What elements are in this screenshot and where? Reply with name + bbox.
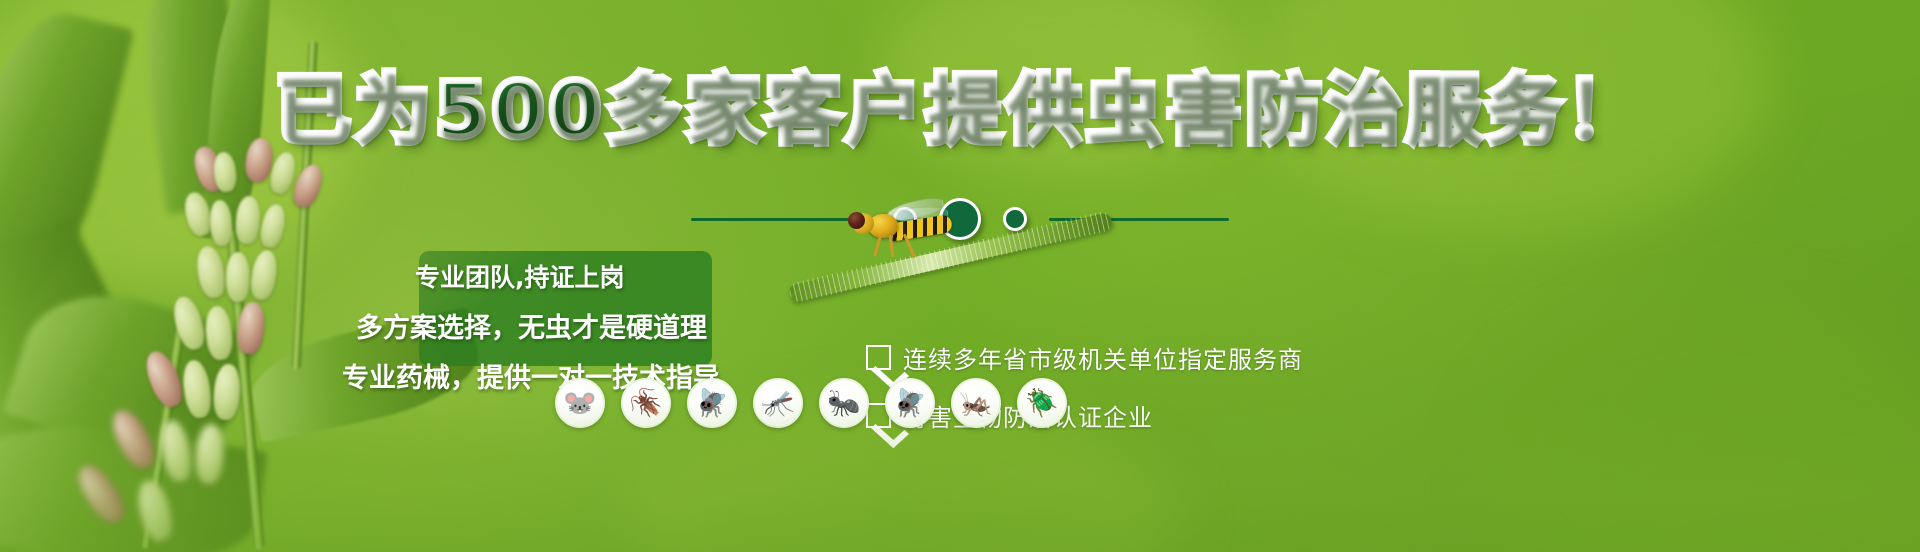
ant-icon: 🐜 xyxy=(827,390,861,417)
pest-icon-cockroach[interactable]: 🪳 xyxy=(621,378,671,428)
pest-icon-fly[interactable]: 🪰 xyxy=(687,378,737,428)
slogan-line-1: 专业团队,持证上岗 xyxy=(415,258,625,294)
mouse-icon: 🐭 xyxy=(563,390,597,417)
pest-icon-blowfly[interactable]: 🪰 xyxy=(885,378,935,428)
checklist-item: 连续多年省市级机关单位指定服务商 xyxy=(866,340,1303,375)
background-bokeh-blob xyxy=(1480,300,1920,552)
pest-icon-mosquito[interactable]: 🦟 xyxy=(753,378,803,428)
checklist-item-label: 连续多年省市级机关单位指定服务商 xyxy=(903,340,1303,375)
pest-icon-ant[interactable]: 🐜 xyxy=(819,378,869,428)
banner-headline-text: 已为500多家客户提供虫害防治服务！ xyxy=(275,65,1646,154)
slogan-line-2: 多方案选择，无虫才是硬道理 xyxy=(356,306,707,345)
promo-banner: 已为500多家客户提供虫害防治服务！ 专业团队,持证上岗 多方案选择，无虫才是硬… xyxy=(0,0,1920,552)
pest-icon-mouse[interactable]: 🐭 xyxy=(555,378,605,428)
bedbug-icon: 🪲 xyxy=(1025,390,1059,417)
flea-icon: 🦗 xyxy=(959,390,993,417)
checkbox-checked-icon xyxy=(866,345,891,370)
fly-icon: 🪰 xyxy=(695,390,729,417)
pest-icon-flea[interactable]: 🦗 xyxy=(951,378,1001,428)
hoverfly-icon xyxy=(846,199,956,259)
pest-icon-bedbug[interactable]: 🪲 xyxy=(1017,378,1067,428)
mosquito-icon: 🦟 xyxy=(761,390,795,417)
blowfly-icon: 🪰 xyxy=(893,390,927,417)
hoverfly-leg xyxy=(873,235,881,257)
pest-icon-row: 🐭 🪳 🪰 🦟 🐜 🪰 🦗 🪲 xyxy=(555,378,1067,428)
banner-headline: 已为500多家客户提供虫害防治服务！ xyxy=(0,72,1920,148)
hoverfly-eye xyxy=(848,212,865,229)
cockroach-icon: 🪳 xyxy=(629,390,663,417)
